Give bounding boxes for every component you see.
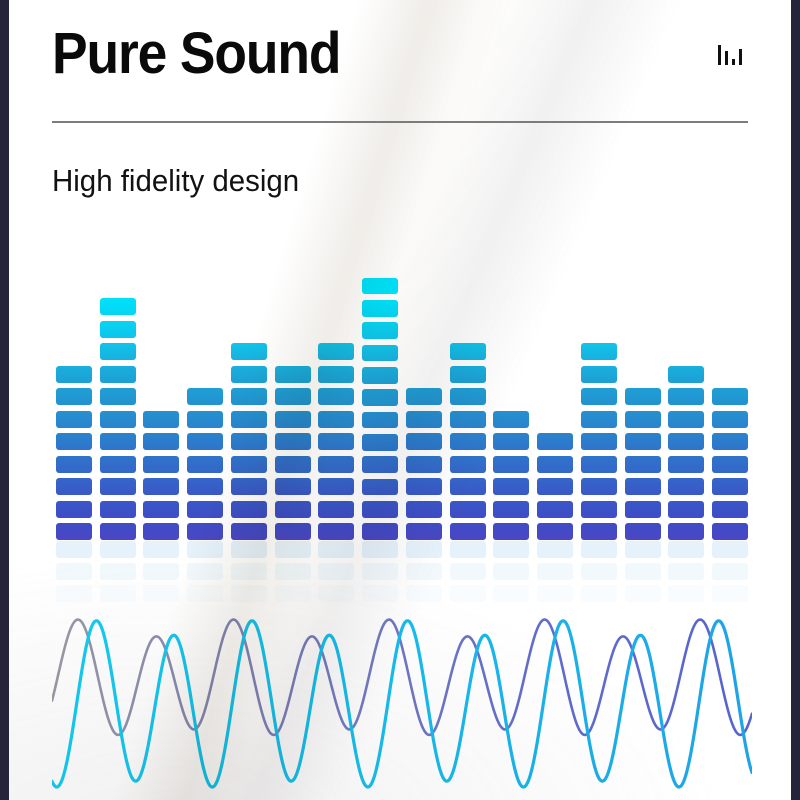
equalizer-reflection-segment [668, 541, 704, 558]
equalizer-segment [712, 478, 748, 495]
equalizer-segment [231, 456, 267, 473]
equalizer-reflection-segment [56, 541, 92, 558]
equalizer-segment [581, 523, 617, 540]
equalizer-segment [56, 523, 92, 540]
equalizer-segment [318, 433, 354, 450]
equalizer-segment [143, 456, 179, 473]
equalizer-reflection-segment [625, 541, 661, 558]
header: Pure Sound [52, 14, 748, 94]
equalizer-segment [275, 478, 311, 495]
poster-card: Pure Sound High fidelity design [9, 0, 791, 800]
equalizer-reflection-segment [187, 563, 223, 580]
equalizer-segment [537, 433, 573, 450]
equalizer-segment [318, 343, 354, 360]
equalizer-segment [406, 433, 442, 450]
equalizer-segment [450, 478, 486, 495]
equalizer-segment [100, 523, 136, 540]
equalizer-bar [665, 272, 709, 540]
equalizer-segment [625, 478, 661, 495]
equalizer-segment [187, 456, 223, 473]
equalizer-reflection-segment [493, 563, 529, 580]
equalizer-segment [143, 501, 179, 518]
equalizer-segment [668, 411, 704, 428]
equalizer-segment [406, 501, 442, 518]
equalizer-bar [52, 272, 96, 540]
equalizer-segment [406, 478, 442, 495]
equalizer-segment [56, 388, 92, 405]
equalizer-segment [712, 501, 748, 518]
equalizer-segment [275, 411, 311, 428]
equalizer-segment [318, 456, 354, 473]
equalizer-segment [537, 501, 573, 518]
equalizer-segment [668, 523, 704, 540]
equalizer-segment [493, 456, 529, 473]
equalizer-reflection-segment [143, 563, 179, 580]
equalizer-reflection-segment [668, 563, 704, 580]
equalizer-segment [537, 456, 573, 473]
equalizer-segment [56, 456, 92, 473]
equalizer-segment [493, 478, 529, 495]
equalizer-segment [318, 523, 354, 540]
equalizer-segment [362, 456, 398, 473]
page-title: Pure Sound [52, 25, 340, 83]
equalizer-reflection-segment [406, 541, 442, 558]
equalizer-segment [187, 523, 223, 540]
equalizer-segment [450, 501, 486, 518]
equalizer-segment [537, 523, 573, 540]
equalizer-bar [227, 272, 271, 540]
equalizer-bar [140, 272, 184, 540]
equalizer-segment [712, 456, 748, 473]
equalizer-segment [581, 343, 617, 360]
equalizer-segment [231, 366, 267, 383]
equalizer-bar [577, 272, 621, 540]
equalizer-segment [318, 501, 354, 518]
equalizer-bar [402, 272, 446, 540]
equalizer-segment [318, 388, 354, 405]
equalizer-segment [450, 523, 486, 540]
equalizer-segment [187, 433, 223, 450]
equalizer-segment [493, 501, 529, 518]
equalizer-segment [231, 388, 267, 405]
equalizer-segment [56, 501, 92, 518]
equalizer-reflection-segment [362, 541, 398, 558]
equalizer-bar [358, 272, 402, 540]
equalizer-segment [450, 456, 486, 473]
waveform-chart [52, 588, 752, 794]
equalizer-bar [708, 272, 752, 540]
equalizer-segment [275, 366, 311, 383]
equalizer-segment [581, 478, 617, 495]
equalizer-segment [143, 523, 179, 540]
equalizer-segment [712, 523, 748, 540]
equalizer-reflection-segment [318, 563, 354, 580]
equalizer-segment [712, 388, 748, 405]
equalizer-segment [450, 433, 486, 450]
equalizer-reflection-segment [450, 563, 486, 580]
equalizer-bar [96, 272, 140, 540]
equalizer-bar-3 [732, 59, 735, 65]
equalizer-segment [406, 523, 442, 540]
equalizer-segment [362, 389, 398, 406]
equalizer-segment [100, 456, 136, 473]
equalizer-segment [450, 411, 486, 428]
subtitle: High fidelity design [52, 163, 299, 199]
equalizer-segment [668, 433, 704, 450]
equalizer-reflection-segment [275, 563, 311, 580]
equalizer-bar [446, 272, 490, 540]
equalizer-segment [187, 411, 223, 428]
equalizer-segment [231, 523, 267, 540]
equalizer-segment [406, 388, 442, 405]
equalizer-reflection-segment [362, 563, 398, 580]
equalizer-segment [406, 411, 442, 428]
equalizer-reflection-segment [100, 541, 136, 558]
equalizer-segment [275, 456, 311, 473]
equalizer-segment [537, 478, 573, 495]
equalizer-segment [143, 478, 179, 495]
equalizer-segment [362, 412, 398, 429]
equalizer-bar-4 [739, 49, 742, 65]
equalizer-segment [581, 456, 617, 473]
equalizer-bar [271, 272, 315, 540]
equalizer-reflection-segment [318, 541, 354, 558]
equalizer-reflection-segment [231, 541, 267, 558]
equalizer-segment [231, 343, 267, 360]
equalizer-reflection-segment [537, 563, 573, 580]
equalizer-segment [187, 478, 223, 495]
equalizer-bars-icon [718, 43, 742, 65]
equalizer-segment [668, 478, 704, 495]
equalizer-segment [450, 343, 486, 360]
equalizer-reflection-segment [187, 541, 223, 558]
equalizer-segment [275, 388, 311, 405]
header-divider [52, 121, 748, 123]
equalizer-segment [625, 456, 661, 473]
equalizer-segment [100, 366, 136, 383]
equalizer-chart [52, 272, 752, 540]
equalizer-segment [231, 501, 267, 518]
equalizer-reflection-segment [231, 563, 267, 580]
equalizer-reflection-segment [581, 541, 617, 558]
equalizer-reflection-segment [537, 541, 573, 558]
equalizer-bar [315, 272, 359, 540]
equalizer-segment [318, 478, 354, 495]
equalizer-segment [318, 411, 354, 428]
equalizer-bar-1 [718, 45, 721, 65]
equalizer-reflection-segment [56, 563, 92, 580]
equalizer-segment [100, 321, 136, 338]
equalizer-segment [362, 367, 398, 384]
equalizer-segment [362, 300, 398, 317]
equalizer-segment [318, 366, 354, 383]
equalizer-segment [100, 388, 136, 405]
equalizer-segment [581, 433, 617, 450]
equalizer-segment [187, 501, 223, 518]
equalizer-segment [625, 523, 661, 540]
equalizer-segment [231, 411, 267, 428]
equalizer-segment [362, 501, 398, 518]
equalizer-segment [362, 278, 398, 295]
equalizer-segment [493, 433, 529, 450]
equalizer-segment [668, 501, 704, 518]
equalizer-reflection-segment [625, 563, 661, 580]
equalizer-segment [362, 322, 398, 339]
equalizer-segment [56, 478, 92, 495]
equalizer-segment [581, 366, 617, 383]
equalizer-reflection-segment [450, 541, 486, 558]
equalizer-segment [712, 433, 748, 450]
equalizer-segment [581, 411, 617, 428]
equalizer-bar [183, 272, 227, 540]
equalizer-segment [450, 388, 486, 405]
equalizer-segment [56, 366, 92, 383]
equalizer-segment [712, 411, 748, 428]
equalizer-segment [56, 411, 92, 428]
equalizer-bar-2 [725, 51, 728, 65]
equalizer-segment [100, 433, 136, 450]
equalizer-segment [275, 523, 311, 540]
equalizer-segment [625, 411, 661, 428]
equalizer-segment [362, 434, 398, 451]
equalizer-segment [231, 478, 267, 495]
equalizer-segment [187, 388, 223, 405]
equalizer-reflection-segment [581, 563, 617, 580]
equalizer-segment [581, 388, 617, 405]
equalizer-segment [143, 411, 179, 428]
equalizer-segment [362, 479, 398, 496]
equalizer-segment [56, 433, 92, 450]
equalizer-segment [493, 523, 529, 540]
equalizer-reflection-segment [406, 563, 442, 580]
equalizer-segment [100, 501, 136, 518]
equalizer-bar [490, 272, 534, 540]
equalizer-segment [625, 388, 661, 405]
poster-frame: Pure Sound High fidelity design [0, 0, 800, 800]
equalizer-segment [100, 411, 136, 428]
waveform-svg [52, 588, 752, 794]
equalizer-reflection-segment [712, 541, 748, 558]
equalizer-reflection-segment [712, 563, 748, 580]
equalizer-segment [450, 366, 486, 383]
equalizer-reflection-segment [100, 563, 136, 580]
equalizer-bar [621, 272, 665, 540]
equalizer-segment [625, 501, 661, 518]
equalizer-segment [668, 388, 704, 405]
equalizer-segment [100, 343, 136, 360]
equalizer-segment [668, 456, 704, 473]
upper-wave-path [52, 620, 752, 735]
equalizer-segment [581, 501, 617, 518]
equalizer-segment [406, 456, 442, 473]
equalizer-segment [493, 411, 529, 428]
equalizer-reflection-segment [493, 541, 529, 558]
equalizer-reflection-segment [275, 541, 311, 558]
equalizer-reflection-segment [143, 541, 179, 558]
equalizer-segment [275, 433, 311, 450]
equalizer-segment [100, 298, 136, 315]
equalizer-segment [143, 433, 179, 450]
equalizer-segment [362, 523, 398, 540]
equalizer-segment [625, 433, 661, 450]
equalizer-segment [100, 478, 136, 495]
equalizer-bar [533, 272, 577, 540]
equalizer-segment [275, 501, 311, 518]
equalizer-segment [668, 366, 704, 383]
equalizer-segment [362, 345, 398, 362]
equalizer-segment [231, 433, 267, 450]
